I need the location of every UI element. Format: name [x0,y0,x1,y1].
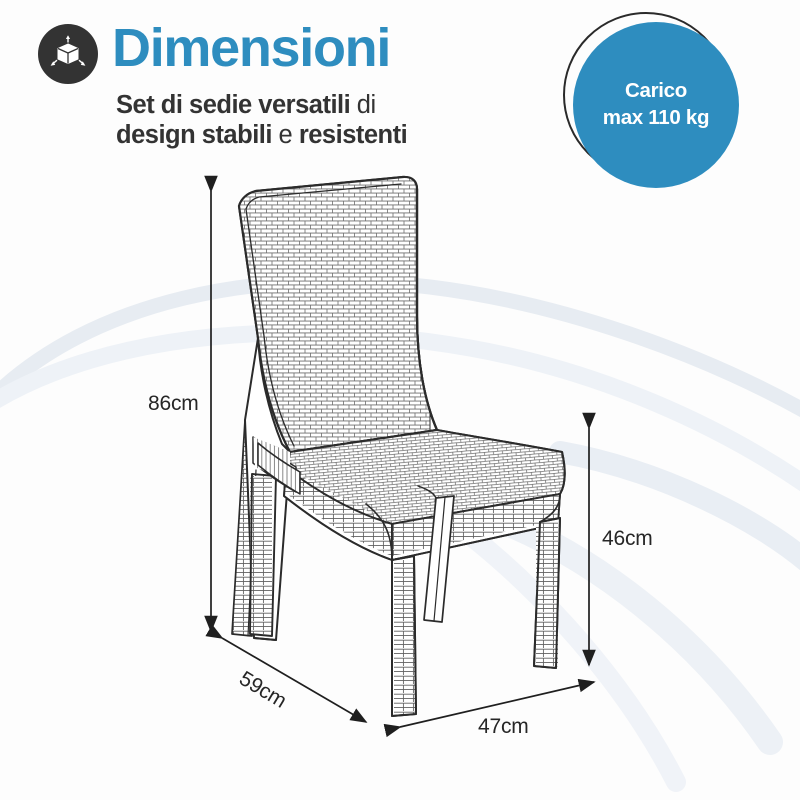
infographic-root: Dimensioni Set di sedie versatili di des… [0,0,800,800]
dimension-arrows [0,0,800,800]
dimension-label-seat-height: 46cm [602,527,653,551]
dimension-label-width: 47cm [478,715,529,739]
dimension-label-height: 86cm [148,392,199,416]
